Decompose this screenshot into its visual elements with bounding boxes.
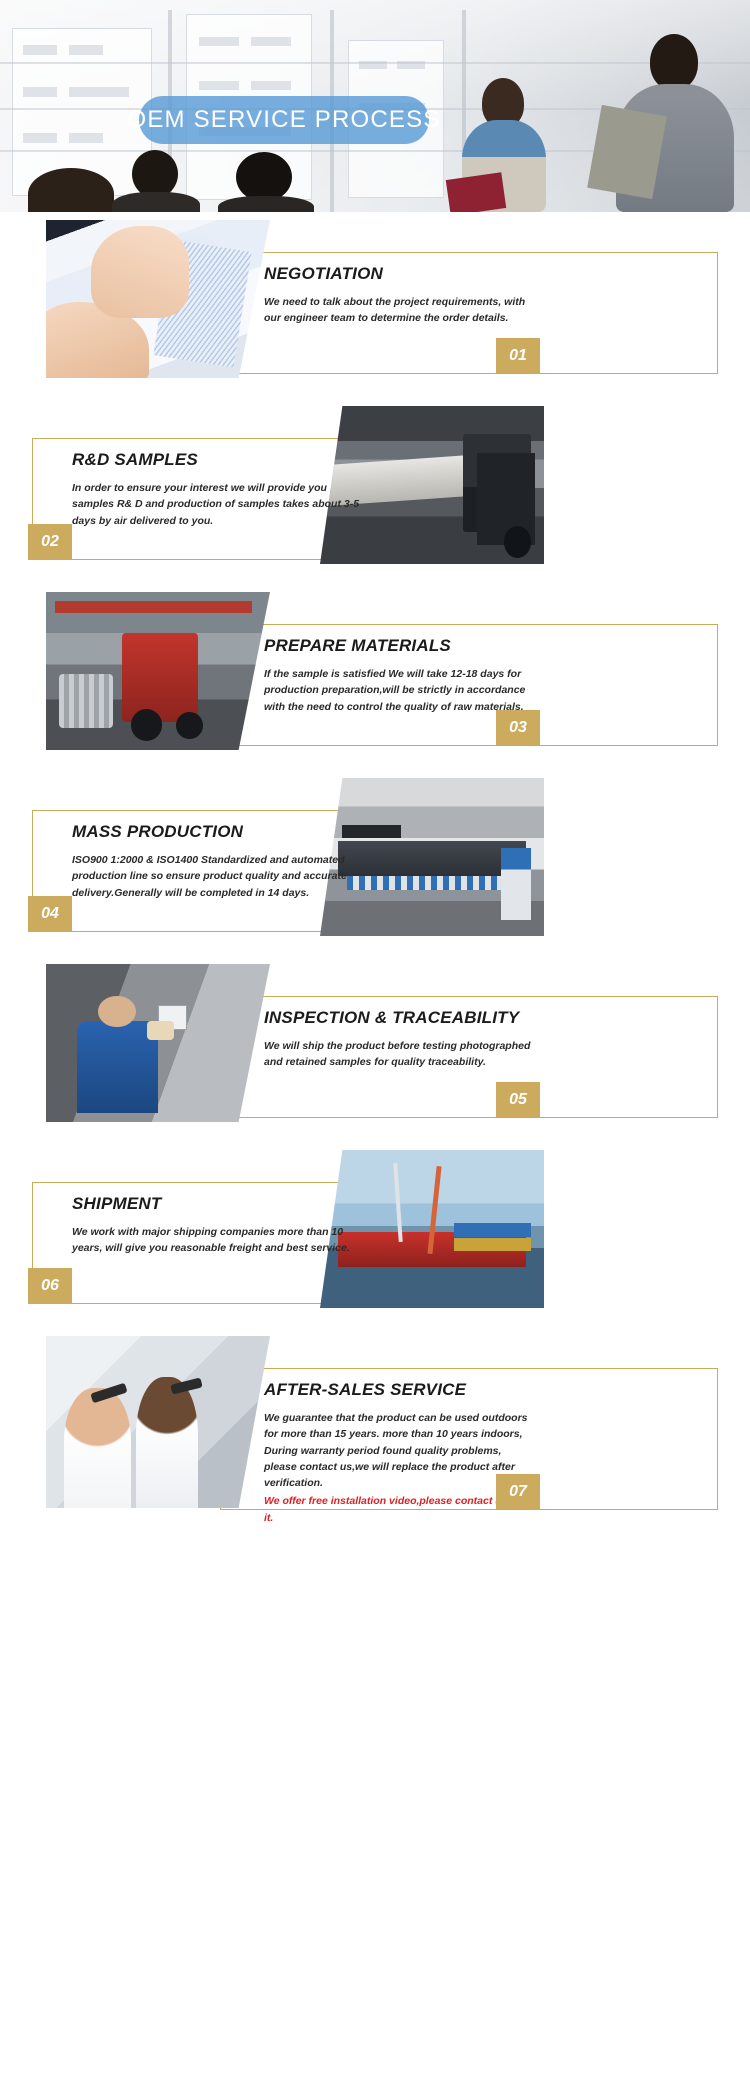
- inspection-traceability-photo: [46, 964, 270, 1122]
- process-step: NEGOTIATION We need to talk about the pr…: [0, 220, 750, 406]
- step-description: ISO900 1:2000 & ISO1400 Standardized and…: [72, 852, 362, 901]
- step-text-block: PREPARE MATERIALS If the sample is satis…: [264, 636, 536, 715]
- step-text-block: SHIPMENT We work with major shipping com…: [72, 1194, 362, 1257]
- process-steps-list: NEGOTIATION We need to talk about the pr…: [0, 212, 750, 1542]
- person-silhouette: [112, 192, 200, 212]
- crane-graphic: [55, 601, 252, 612]
- headset-icon: [171, 1377, 204, 1395]
- step-title: MASS PRODUCTION: [72, 822, 362, 842]
- step-number-badge: 01: [496, 338, 540, 374]
- step-text-block: NEGOTIATION We need to talk about the pr…: [264, 264, 536, 327]
- worker-graphic: [501, 848, 530, 921]
- step-description: We will ship the product before testing …: [264, 1038, 536, 1071]
- prepare-materials-photo: [46, 592, 270, 750]
- forklift-graphic: [504, 526, 531, 558]
- page-title: OEM SERVICE PROCESS: [127, 106, 440, 134]
- person-silhouette: [236, 152, 292, 202]
- glove-graphic: [147, 1021, 174, 1040]
- step-title: SHIPMENT: [72, 1194, 362, 1214]
- step-text-block: MASS PRODUCTION ISO900 1:2000 & ISO1400 …: [72, 822, 362, 901]
- process-step: R&D SAMPLES In order to ensure your inte…: [0, 406, 750, 592]
- document-prop: [446, 172, 506, 212]
- crane-graphic: [393, 1163, 403, 1242]
- process-step: PREPARE MATERIALS If the sample is satis…: [0, 592, 750, 778]
- process-step: SHIPMENT We work with major shipping com…: [0, 1150, 750, 1336]
- step-text-block: INSPECTION & TRACEABILITY We will ship t…: [264, 1008, 536, 1071]
- step-title: PREPARE MATERIALS: [264, 636, 536, 656]
- hero-title-pill: OEM SERVICE PROCESS: [139, 96, 429, 144]
- after-sales-service-photo: [46, 1336, 270, 1508]
- step-description: We need to talk about the project requir…: [264, 294, 536, 327]
- step-title: AFTER-SALES SERVICE: [264, 1380, 536, 1400]
- person-silhouette: [28, 168, 114, 212]
- step-description: We work with major shipping companies mo…: [72, 1224, 362, 1257]
- person-silhouette: [218, 196, 314, 212]
- step-text-block: R&D SAMPLES In order to ensure your inte…: [72, 450, 362, 529]
- process-step: INSPECTION & TRACEABILITY We will ship t…: [0, 964, 750, 1150]
- process-step: AFTER-SALES SERVICE We guarantee that th…: [0, 1336, 750, 1542]
- step-description: In order to ensure your interest we will…: [72, 480, 362, 529]
- step-title: R&D SAMPLES: [72, 450, 362, 470]
- negotiation-photo: [46, 220, 270, 378]
- step-number-badge: 07: [496, 1474, 540, 1510]
- forklift-wheel: [131, 709, 162, 741]
- container-graphic: [454, 1238, 530, 1251]
- person-silhouette: [650, 34, 698, 90]
- person-silhouette: [132, 150, 178, 198]
- process-step: MASS PRODUCTION ISO900 1:2000 & ISO1400 …: [0, 778, 750, 964]
- step-number-badge: 02: [28, 524, 72, 560]
- step-number-badge: 04: [28, 896, 72, 932]
- step-number-badge: 03: [496, 710, 540, 746]
- step-number-badge: 06: [28, 1268, 72, 1304]
- step-title: INSPECTION & TRACEABILITY: [264, 1008, 536, 1028]
- forklift-wheel: [176, 712, 203, 739]
- headset-icon: [90, 1382, 127, 1403]
- step-title: NEGOTIATION: [264, 264, 536, 284]
- hand-graphic: [91, 226, 190, 318]
- hero-banner: OEM SERVICE PROCESS: [0, 0, 750, 212]
- step-number-badge: 05: [496, 1082, 540, 1118]
- step-description: If the sample is satisfied We will take …: [264, 666, 536, 715]
- container-graphic: [454, 1223, 530, 1237]
